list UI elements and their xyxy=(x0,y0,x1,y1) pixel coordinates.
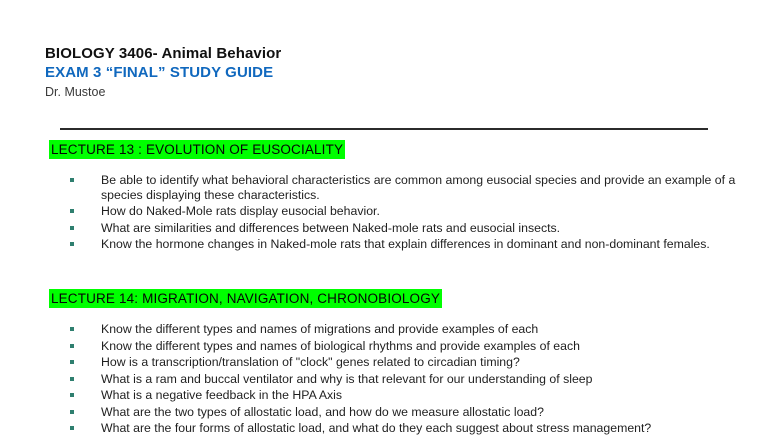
list-item-text: Know the different types and names of mi… xyxy=(101,322,759,337)
bullet-list-lecture-14: Know the different types and names of mi… xyxy=(70,322,759,436)
document-page: BIOLOGY 3406- Animal Behavior EXAM 3 “FI… xyxy=(0,0,784,441)
bullet-icon xyxy=(70,327,74,331)
bullet-icon xyxy=(70,178,74,182)
list-item-text: What is a ram and buccal ventilator and … xyxy=(101,372,759,387)
list-item: How is a transcription/translation of "c… xyxy=(70,355,759,370)
section-lecture-13: LECTURE 13 : EVOLUTION OF EUSOCIALITY Be… xyxy=(49,140,759,252)
bullet-icon xyxy=(70,377,74,381)
list-item: What are the two types of allostatic loa… xyxy=(70,405,759,420)
course-title: BIOLOGY 3406- Animal Behavior xyxy=(45,44,745,63)
list-item-text: What are similarities and differences be… xyxy=(101,221,759,236)
list-item: Know the different types and names of bi… xyxy=(70,339,759,354)
list-item-text: What is a negative feedback in the HPA A… xyxy=(101,388,759,403)
bullet-icon xyxy=(70,209,74,213)
section-heading-lecture-13: LECTURE 13 : EVOLUTION OF EUSOCIALITY xyxy=(49,140,345,159)
bullet-list-lecture-13: Be able to identify what behavioral char… xyxy=(70,173,759,252)
list-item-text: Know the different types and names of bi… xyxy=(101,339,759,354)
list-item: Know the hormone changes in Naked-mole r… xyxy=(70,237,759,252)
list-item-text: Know the hormone changes in Naked-mole r… xyxy=(101,237,759,252)
instructor-name: Dr. Mustoe xyxy=(45,83,745,101)
list-item: What are similarities and differences be… xyxy=(70,221,759,236)
list-item-text: Be able to identify what behavioral char… xyxy=(101,173,759,202)
bullet-icon xyxy=(70,344,74,348)
bullet-icon xyxy=(70,393,74,397)
list-item: What is a negative feedback in the HPA A… xyxy=(70,388,759,403)
bullet-icon xyxy=(70,410,74,414)
section-heading-lecture-14: LECTURE 14: MIGRATION, NAVIGATION, CHRON… xyxy=(49,289,442,308)
list-item: How do Naked-Mole rats display eusocial … xyxy=(70,204,759,219)
list-item: Know the different types and names of mi… xyxy=(70,322,759,337)
list-item: What is a ram and buccal ventilator and … xyxy=(70,372,759,387)
section-lecture-14: LECTURE 14: MIGRATION, NAVIGATION, CHRON… xyxy=(49,289,759,436)
exam-title: EXAM 3 “FINAL” STUDY GUIDE xyxy=(45,63,745,82)
bullet-icon xyxy=(70,426,74,430)
header-divider xyxy=(60,128,708,130)
list-item-text: How is a transcription/translation of "c… xyxy=(101,355,759,370)
list-item-text: How do Naked-Mole rats display eusocial … xyxy=(101,204,759,219)
bullet-icon xyxy=(70,360,74,364)
bullet-icon xyxy=(70,242,74,246)
list-item-text: What are the two types of allostatic loa… xyxy=(101,405,759,420)
list-item: Be able to identify what behavioral char… xyxy=(70,173,759,202)
bullet-icon xyxy=(70,226,74,230)
list-item-text: What are the four forms of allostatic lo… xyxy=(101,421,759,436)
list-item: What are the four forms of allostatic lo… xyxy=(70,421,759,436)
document-header: BIOLOGY 3406- Animal Behavior EXAM 3 “FI… xyxy=(45,44,745,101)
